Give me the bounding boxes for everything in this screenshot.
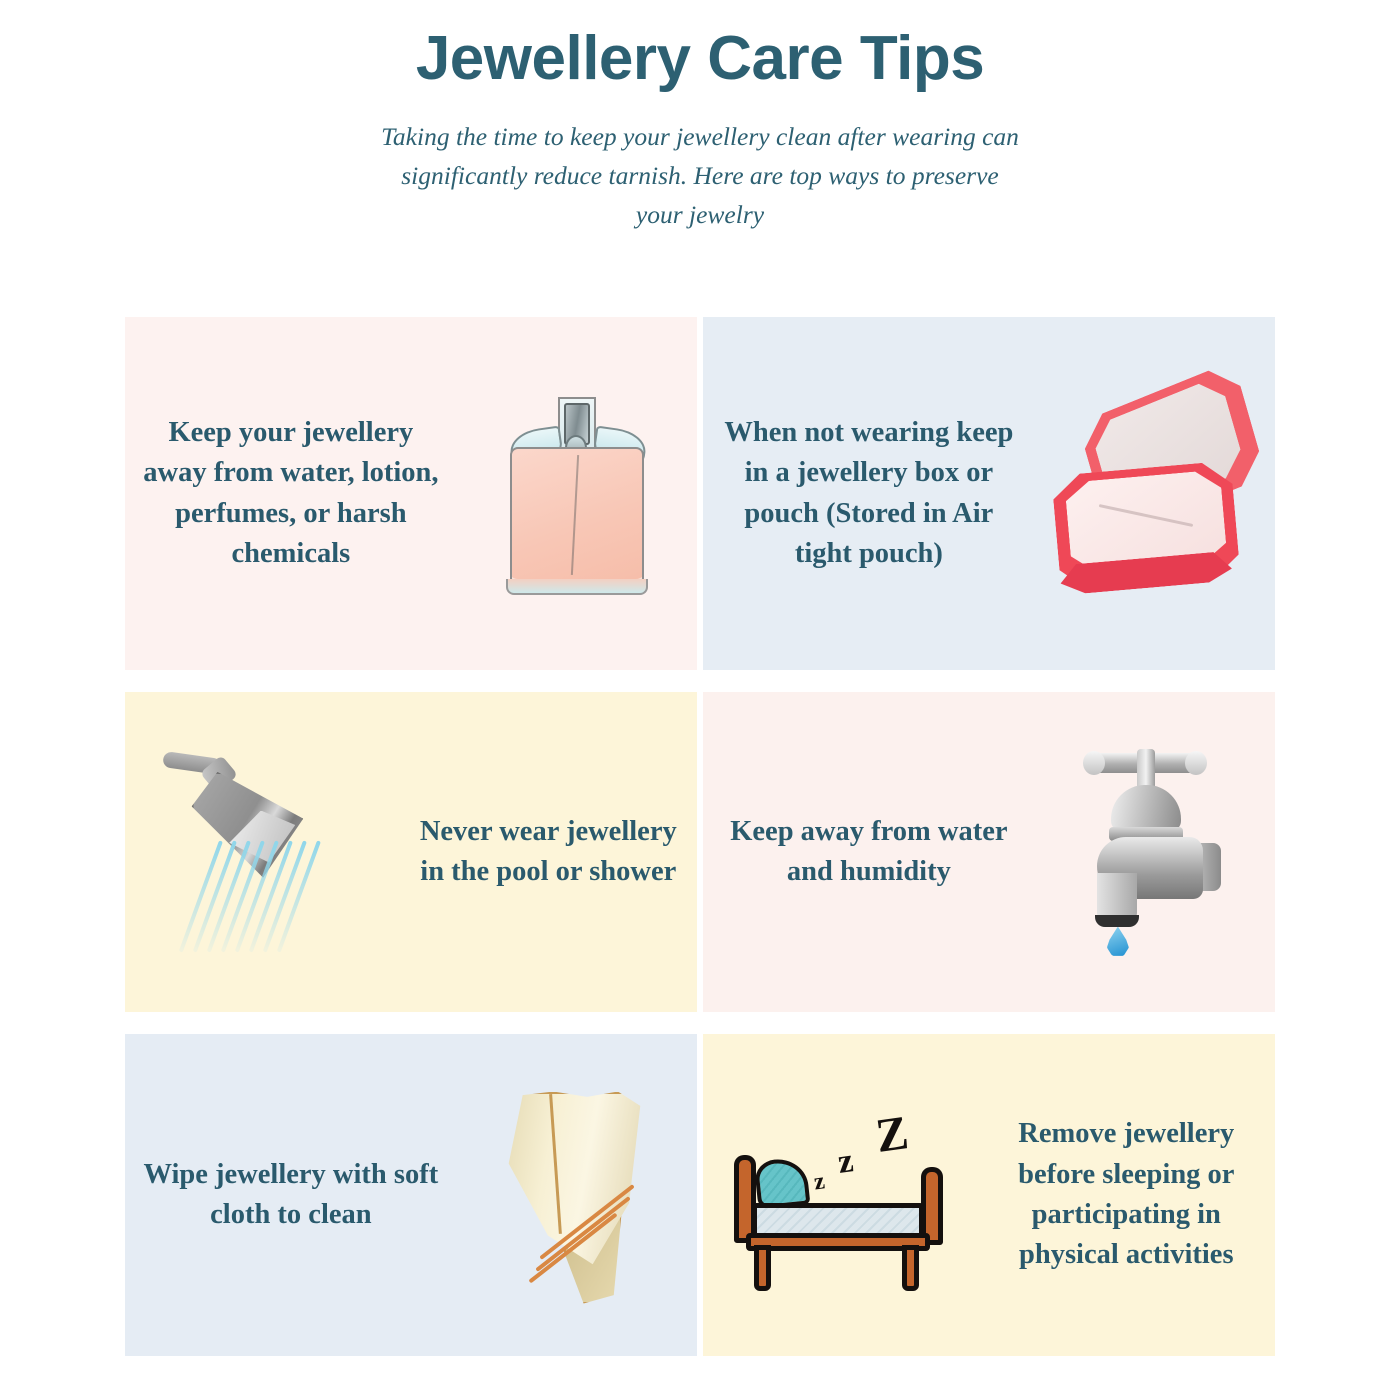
faucet-icon: [1035, 692, 1275, 1012]
water-drop-icon: [1107, 927, 1129, 957]
tip-card-jewellery-box-storage: When not wearing keep in a jewellery box…: [703, 317, 1275, 670]
ring-box-icon: [1035, 317, 1275, 670]
tip-card-away-from-humidity: Keep away from water and humidity: [703, 692, 1275, 1012]
infographic-page: Jewellery Care Tips Taking the time to k…: [0, 0, 1400, 1400]
tips-grid: Keep your jewellery away from water, lot…: [125, 317, 1275, 1356]
zzz-large: Z: [872, 1105, 911, 1164]
perfume-bottle-icon: [457, 317, 697, 670]
tip-card-no-pool-or-shower: Never wear jewellery in the pool or show…: [125, 692, 697, 1012]
shower-head-icon: [125, 692, 400, 1012]
tip-card-text: Keep away from water and humidity: [703, 812, 1035, 893]
tip-card-text: Wipe jewellery with soft cloth to clean: [125, 1155, 457, 1236]
zzz-small: z: [812, 1168, 826, 1196]
zzz-medium: z: [835, 1142, 855, 1182]
tip-card-wipe-with-soft-cloth: Wipe jewellery with soft cloth to clean: [125, 1034, 697, 1356]
tip-card-text: When not wearing keep in a jewellery box…: [703, 413, 1035, 575]
cloth-icon: [457, 1034, 697, 1356]
page-title: Jewellery Care Tips: [0, 0, 1400, 93]
bed-sleep-icon: z z Z: [703, 1034, 978, 1356]
tip-card-text: Never wear jewellery in the pool or show…: [400, 812, 697, 893]
page-subtitle: Taking the time to keep your jewellery c…: [380, 117, 1020, 234]
tip-card-water-lotion-perfume: Keep your jewellery away from water, lot…: [125, 317, 697, 670]
tip-card-text: Keep your jewellery away from water, lot…: [125, 413, 457, 575]
tip-card-text: Remove jewellery before sleeping or part…: [978, 1114, 1275, 1276]
tip-card-remove-before-sleeping: Remove jewellery before sleeping or part…: [703, 1034, 1275, 1356]
